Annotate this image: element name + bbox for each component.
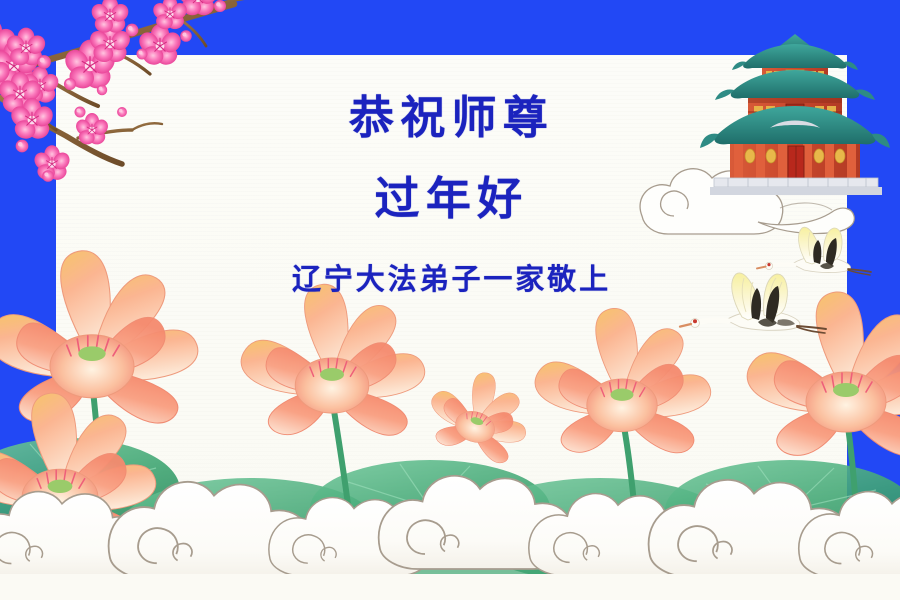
- lotus-bloom: [0, 251, 198, 423]
- flying-crane: [678, 268, 828, 344]
- plum-blossoms: [0, 0, 221, 182]
- greeting-line-2: 过年好: [375, 176, 529, 221]
- lotus-bud: [420, 359, 540, 468]
- lotus-bloom: [241, 284, 425, 435]
- greeting-signature: 辽宁大法弟子一家敬上: [292, 265, 611, 294]
- plum-blossom-branch: [0, 0, 282, 200]
- auspicious-cloud-band: [0, 456, 900, 600]
- greeting-card: 恭祝师尊 过年好 辽宁大法弟子一家敬上: [0, 0, 900, 600]
- greeting-line-1: 恭祝师尊: [349, 95, 554, 140]
- chinese-pagoda: [700, 30, 890, 210]
